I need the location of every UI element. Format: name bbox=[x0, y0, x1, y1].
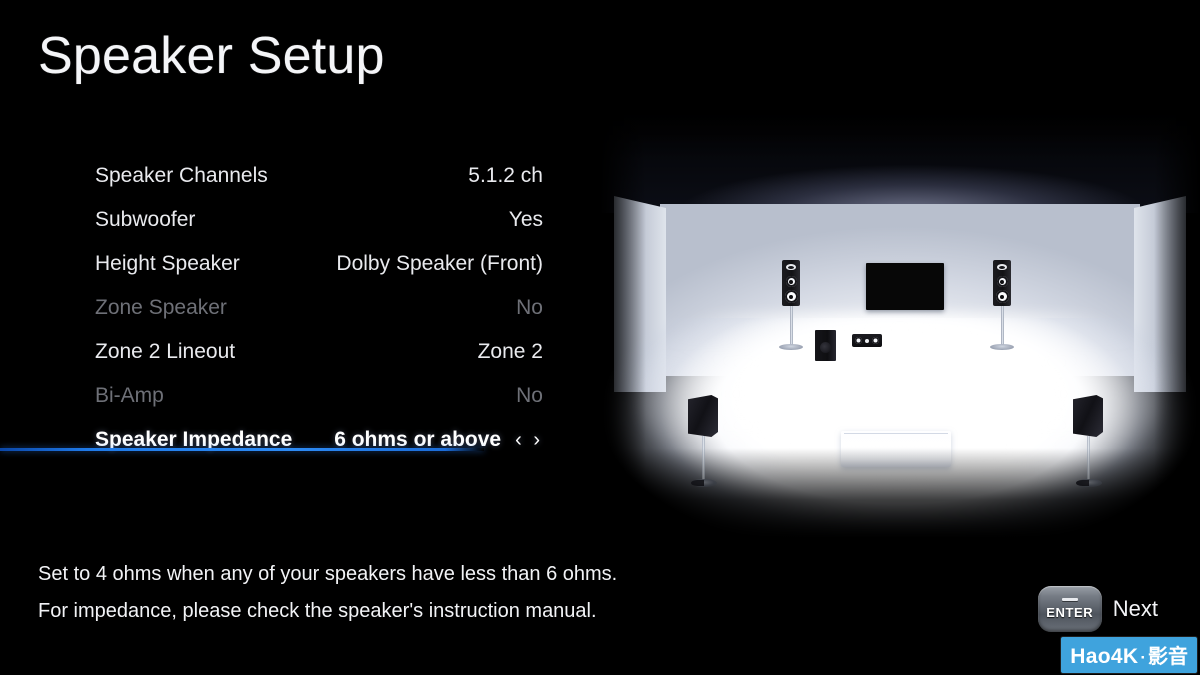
room-ceiling bbox=[600, 108, 1200, 213]
menu-label-zone-2-lineout: Zone 2 Lineout bbox=[95, 340, 235, 364]
menu-row-speaker-channels[interactable]: Speaker Channels 5.1.2 ch bbox=[95, 154, 543, 198]
menu-label-zone-speaker: Zone Speaker bbox=[95, 296, 227, 320]
value-stepper-arrows-icon[interactable]: ‹ › bbox=[515, 429, 543, 452]
help-line-1: Set to 4 ohms when any of your speakers … bbox=[38, 556, 617, 593]
surround-left-speaker bbox=[688, 395, 718, 437]
menu-row-speaker-impedance[interactable]: Speaker Impedance 6 ohms or above ‹ › bbox=[95, 418, 543, 462]
enter-key-label: ENTER bbox=[1046, 605, 1093, 620]
menu-row-height-speaker[interactable]: Height Speaker Dolby Speaker (Front) bbox=[95, 242, 543, 286]
footer-action[interactable]: ENTER Next bbox=[1038, 586, 1158, 632]
watermark-separator: · bbox=[1139, 648, 1147, 668]
room-photo bbox=[600, 108, 1200, 540]
watermark-cn-text: 影音 bbox=[1148, 640, 1188, 669]
speaker-setup-screen: Speaker Setup Speaker Channels 5.1.2 ch … bbox=[0, 0, 1200, 675]
selection-underline bbox=[0, 448, 484, 451]
enter-key-dash-icon bbox=[1062, 598, 1078, 601]
menu-value-zone-2-lineout: Zone 2 bbox=[235, 340, 543, 364]
watermark: Hao4K · 影音 bbox=[1061, 637, 1197, 673]
center-speaker-icon bbox=[852, 334, 882, 347]
menu-label-bi-amp: Bi-Amp bbox=[95, 384, 164, 408]
next-label: Next bbox=[1113, 596, 1158, 622]
front-right-tower-speaker bbox=[993, 260, 1011, 306]
help-text: Set to 4 ohms when any of your speakers … bbox=[38, 556, 617, 630]
menu-label-subwoofer: Subwoofer bbox=[95, 208, 195, 232]
menu-value-speaker-channels: 5.1.2 ch bbox=[268, 164, 543, 188]
menu-value-height-speaker: Dolby Speaker (Front) bbox=[240, 252, 543, 276]
menu-value-subwoofer: Yes bbox=[195, 208, 543, 232]
enter-key-icon[interactable]: ENTER bbox=[1038, 586, 1102, 632]
help-line-2: For impedance, please check the speaker'… bbox=[38, 593, 617, 630]
page-title: Speaker Setup bbox=[38, 26, 385, 86]
subwoofer-icon bbox=[815, 330, 836, 361]
menu-row-bi-amp: Bi-Amp No bbox=[95, 374, 543, 418]
menu-label-height-speaker: Height Speaker bbox=[95, 252, 240, 276]
surround-right-speaker bbox=[1073, 395, 1103, 437]
menu-value-zone-speaker: No bbox=[227, 296, 543, 320]
menu-row-zone-speaker: Zone Speaker No bbox=[95, 286, 543, 330]
settings-menu: Speaker Channels 5.1.2 ch Subwoofer Yes … bbox=[95, 154, 543, 462]
watermark-main-text: Hao4K bbox=[1070, 645, 1138, 669]
front-left-tower-speaker bbox=[782, 260, 800, 306]
menu-label-speaker-channels: Speaker Channels bbox=[95, 164, 268, 188]
television-icon bbox=[866, 263, 944, 310]
menu-row-zone-2-lineout[interactable]: Zone 2 Lineout Zone 2 bbox=[95, 330, 543, 374]
media-bench bbox=[841, 431, 951, 467]
menu-row-subwoofer[interactable]: Subwoofer Yes bbox=[95, 198, 543, 242]
menu-value-bi-amp: No bbox=[164, 384, 543, 408]
